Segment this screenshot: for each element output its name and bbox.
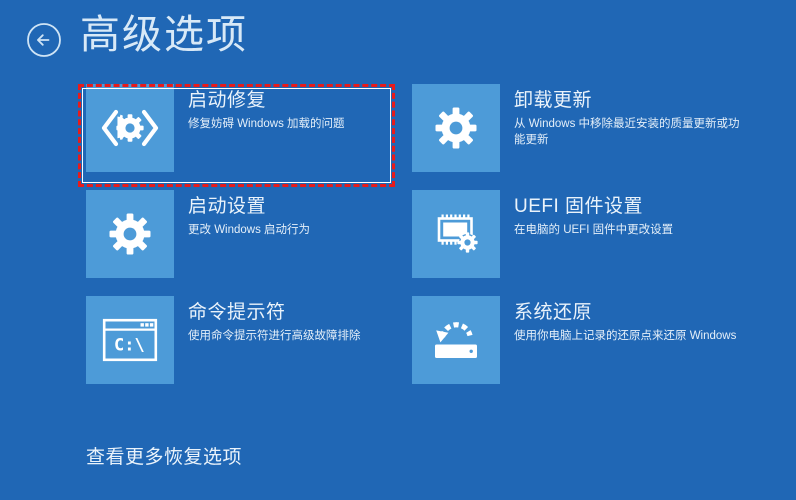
option-labels: 命令提示符 使用命令提示符进行高级故障排除 — [174, 296, 361, 344]
option-title: UEFI 固件设置 — [514, 194, 673, 220]
options-row: 启动设置 更改 Windows 启动行为 — [0, 190, 796, 296]
advanced-options-screen: 高级选项 — [0, 0, 796, 500]
chip-gear-icon — [412, 190, 500, 278]
option-labels: 启动修复 修复妨碍 Windows 加载的问题 — [174, 84, 345, 132]
option-title: 系统还原 — [514, 300, 736, 326]
option-description: 使用你电脑上记录的还原点来还原 Windows — [514, 328, 736, 344]
option-description: 修复妨碍 Windows 加载的问题 — [188, 116, 345, 132]
option-title: 启动设置 — [188, 194, 310, 220]
option-labels: 卸载更新 从 Windows 中移除最近安装的质量更新或功能更新 — [500, 84, 748, 148]
gear-icon — [86, 190, 174, 278]
option-command-prompt[interactable]: C:\ 命令提示符 使用命令提示符进行高级故障排除 — [86, 296, 386, 384]
option-description: 使用命令提示符进行高级故障排除 — [188, 328, 361, 344]
option-title: 命令提示符 — [188, 300, 361, 326]
see-more-recovery-options-link[interactable]: 查看更多恢复选项 — [86, 442, 242, 469]
page-title: 高级选项 — [80, 6, 248, 64]
option-labels: 系统还原 使用你电脑上记录的还原点来还原 Windows — [500, 296, 736, 344]
option-labels: UEFI 固件设置 在电脑的 UEFI 固件中更改设置 — [500, 190, 673, 238]
header: 高级选项 — [0, 0, 796, 78]
options-row: C:\ 命令提示符 使用命令提示符进行高级故障排除 — [0, 296, 796, 402]
option-title: 卸载更新 — [514, 88, 748, 114]
option-title: 启动修复 — [188, 88, 345, 114]
option-uninstall-updates[interactable]: 卸载更新 从 Windows 中移除最近安装的质量更新或功能更新 — [412, 84, 752, 172]
gear-icon — [412, 84, 500, 172]
svg-text:C:\: C:\ — [114, 336, 145, 356]
option-uefi-firmware-settings[interactable]: UEFI 固件设置 在电脑的 UEFI 固件中更改设置 — [412, 190, 752, 278]
console-window-icon: C:\ — [86, 296, 174, 384]
options-grid: 启动修复 修复妨碍 Windows 加载的问题 — [0, 84, 796, 402]
option-labels: 启动设置 更改 Windows 启动行为 — [174, 190, 310, 238]
option-description: 从 Windows 中移除最近安装的质量更新或功能更新 — [514, 116, 748, 148]
disk-restore-arrow-icon — [412, 296, 500, 384]
back-arrow-circle-icon[interactable] — [24, 20, 64, 60]
option-description: 在电脑的 UEFI 固件中更改设置 — [514, 222, 673, 238]
option-description: 更改 Windows 启动行为 — [188, 222, 310, 238]
option-startup-settings[interactable]: 启动设置 更改 Windows 启动行为 — [86, 190, 386, 278]
option-startup-repair[interactable]: 启动修复 修复妨碍 Windows 加载的问题 — [86, 84, 386, 172]
option-system-restore[interactable]: 系统还原 使用你电脑上记录的还原点来还原 Windows — [412, 296, 752, 384]
options-row: 启动修复 修复妨碍 Windows 加载的问题 — [0, 84, 796, 190]
gear-in-angle-brackets-icon — [86, 84, 174, 172]
